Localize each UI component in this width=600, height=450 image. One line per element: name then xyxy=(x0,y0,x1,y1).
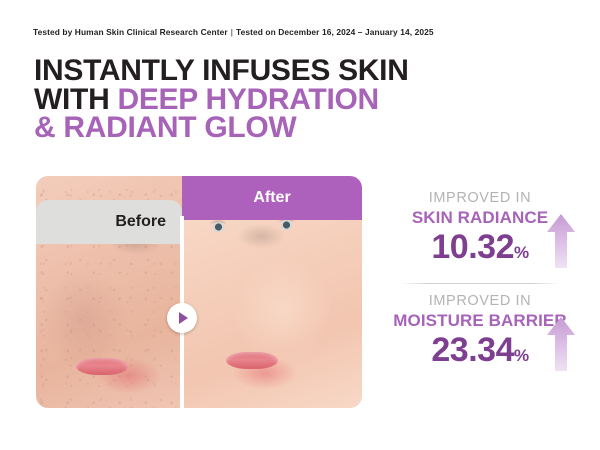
tested-on-text: Tested on December 16, 2024 – January 14… xyxy=(236,27,434,37)
headline-line-2: WITH DEEP HYDRATION xyxy=(34,86,434,115)
before-lips xyxy=(76,358,128,375)
clinical-credit-line: Tested by Human Skin Clinical Research C… xyxy=(33,27,434,37)
after-eye-right xyxy=(278,220,295,230)
headline-line-3: & RADIANT GLOW xyxy=(34,114,434,143)
arrow-up-icon xyxy=(546,315,576,373)
stat-moisture-barrier-value: 23.34 xyxy=(431,331,514,369)
tested-by-text: Tested by Human Skin Clinical Research C… xyxy=(33,27,228,37)
play-triangle-icon xyxy=(179,312,188,324)
stat-skin-radiance-sub: IMPROVED IN xyxy=(382,190,578,207)
after-label: After xyxy=(253,189,290,207)
page-title: INSTANTLY INFUSES SKIN WITH DEEP HYDRATI… xyxy=(34,57,434,143)
stat-moisture-barrier-sub: IMPROVED IN xyxy=(382,293,578,310)
before-after-comparison[interactable]: Before After xyxy=(36,176,362,408)
before-label-banner: Before xyxy=(36,200,182,244)
stats-divider xyxy=(400,283,560,284)
after-lips xyxy=(226,352,278,369)
comparison-slider-handle[interactable] xyxy=(167,303,197,333)
promo-canvas: Tested by Human Skin Clinical Research C… xyxy=(0,0,600,450)
before-label: Before xyxy=(115,213,166,231)
stat-moisture-barrier: IMPROVED IN MOISTURE BARRIER 23.34% xyxy=(382,293,578,375)
arrow-up-icon xyxy=(546,212,576,270)
after-eye-left xyxy=(210,222,227,232)
credit-separator: | xyxy=(228,27,236,37)
after-label-banner: After xyxy=(182,176,362,220)
stat-moisture-barrier-unit: % xyxy=(514,346,529,365)
stat-skin-radiance-unit: % xyxy=(514,243,529,262)
headline-line-1: INSTANTLY INFUSES SKIN xyxy=(34,57,434,86)
stat-skin-radiance-value: 10.32 xyxy=(431,228,514,266)
headline-line-3-text: & RADIANT GLOW xyxy=(34,111,296,144)
stat-skin-radiance: IMPROVED IN SKIN RADIANCE 10.32% xyxy=(382,190,578,272)
results-stats: IMPROVED IN SKIN RADIANCE 10.32% IMPROVE… xyxy=(382,190,578,375)
